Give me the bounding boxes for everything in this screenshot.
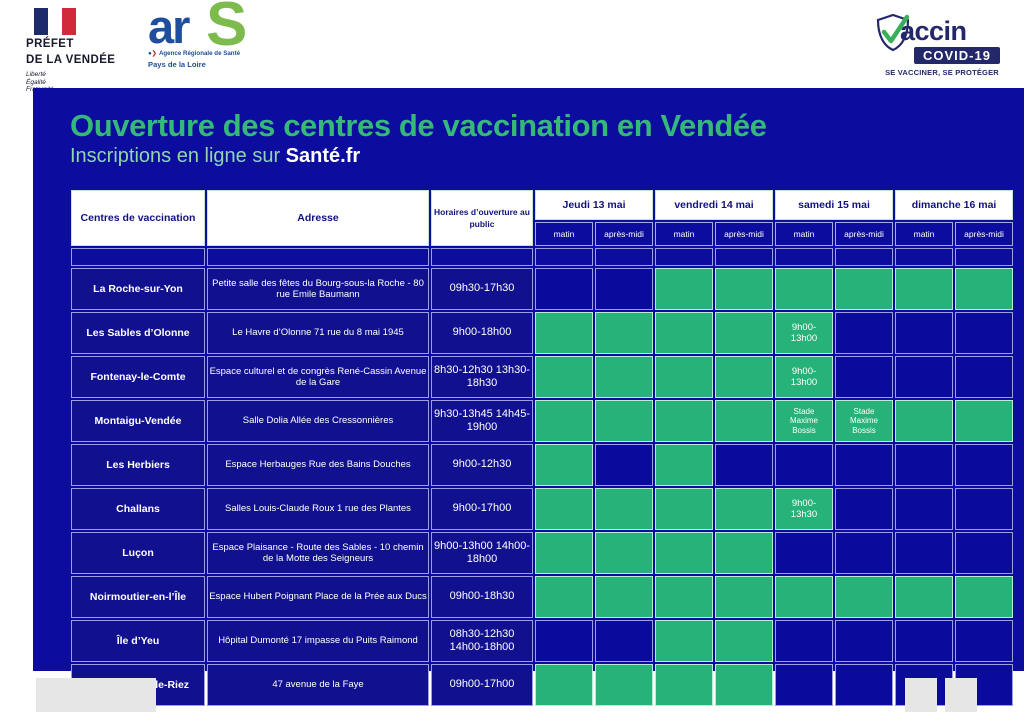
- spacer-cell: [655, 248, 713, 266]
- cell-slot-r6-c5: [835, 532, 893, 574]
- cell-slot-r1-c3: [715, 312, 773, 354]
- cell-slot-r8-c2: [655, 620, 713, 662]
- cell-centre-name: Challans: [71, 488, 205, 530]
- ars-region: Pays de la Loire: [148, 60, 206, 69]
- table-row: La Roche-sur-YonPetite salle des fêtes d…: [71, 268, 1013, 310]
- table-row: Les HerbiersEspace Herbauges Rue des Bai…: [71, 444, 1013, 486]
- cell-slot-r9-c4: [775, 664, 833, 706]
- slot-header-day0-afternoon: après-midi: [595, 222, 653, 246]
- cell-slot-r0-c2: [655, 268, 713, 310]
- subtitle-sante-fr: Santé.fr: [286, 145, 360, 167]
- cell-slot-r0-c3: [715, 268, 773, 310]
- cell-slot-r9-c2: [655, 664, 713, 706]
- cell-slot-r0-c1: [595, 268, 653, 310]
- cell-slot-r1-c2: [655, 312, 713, 354]
- slot-header-day3-afternoon: après-midi: [955, 222, 1013, 246]
- cell-slot-r7-c7: [955, 576, 1013, 618]
- header-day-3: dimanche 16 mai: [895, 190, 1013, 220]
- slot-note: 9h00-13h30: [791, 498, 817, 521]
- table-row: Saint-Hilaire-de-Riez47 avenue de la Fay…: [71, 664, 1013, 706]
- cell-slot-r7-c3: [715, 576, 773, 618]
- cell-slot-r2-c5: [835, 356, 893, 398]
- cell-slot-r4-c2: [655, 444, 713, 486]
- cell-centre-name: Luçon: [71, 532, 205, 574]
- table-row: Fontenay-le-ComteEspace culturel et de c…: [71, 356, 1013, 398]
- cell-adresse: Espace Plaisance - Route des Sables - 10…: [207, 532, 429, 574]
- cell-centre-name: Fontenay-le-Comte: [71, 356, 205, 398]
- table-body: La Roche-sur-YonPetite salle des fêtes d…: [71, 248, 1013, 706]
- cell-slot-r8-c6: [895, 620, 953, 662]
- table-row: ChallansSalles Louis-Claude Roux 1 rue d…: [71, 488, 1013, 530]
- cell-horaires: 09h00-17h00: [431, 664, 533, 706]
- cell-slot-r0-c7: [955, 268, 1013, 310]
- vaccination-schedule-table: Centres de vaccination Adresse Horaires …: [69, 188, 1015, 708]
- cell-slot-r8-c1: [595, 620, 653, 662]
- cell-slot-r3-c0: [535, 400, 593, 442]
- cell-slot-r5-c6: [895, 488, 953, 530]
- logo-bar: PRÉFET DE LA VENDÉE Liberté Égalité Frat…: [0, 0, 1024, 88]
- ars-wordmark: ar S: [148, 6, 268, 56]
- vaccin-covid-logo: accin COVID-19 SE VACCINER, SE PROTÉGER: [876, 14, 1008, 76]
- cell-slot-r7-c2: [655, 576, 713, 618]
- cell-centre-name: Île d’Yeu: [71, 620, 205, 662]
- cell-adresse: Salles Louis-Claude Roux 1 rue des Plant…: [207, 488, 429, 530]
- cell-slot-r6-c2: [655, 532, 713, 574]
- cell-slot-r6-c4: [775, 532, 833, 574]
- slot-header-day1-morning: matin: [655, 222, 713, 246]
- page-subtitle: Inscriptions en ligne sur Santé.fr: [70, 145, 360, 168]
- cell-adresse: Hôpital Dumonté 17 impasse du Puits Raim…: [207, 620, 429, 662]
- bottom-placeholder-right-2: [945, 678, 977, 712]
- bottom-placeholder-right-1: [905, 678, 937, 712]
- cell-slot-r7-c4: [775, 576, 833, 618]
- slot-note: StadeMaximeBossis: [836, 407, 892, 436]
- ars-wordmark-green: S: [206, 0, 247, 56]
- cell-slot-r7-c0: [535, 576, 593, 618]
- slot-header-day2-morning: matin: [775, 222, 833, 246]
- header-row-primary: Centres de vaccination Adresse Horaires …: [71, 190, 1013, 220]
- cell-slot-r8-c3: [715, 620, 773, 662]
- french-flag-icon: [34, 8, 76, 35]
- cell-adresse: Le Havre d’Olonne 71 rue du 8 mai 1945: [207, 312, 429, 354]
- cell-slot-r5-c0: [535, 488, 593, 530]
- cell-slot-r4-c3: [715, 444, 773, 486]
- motto-egalite: Égalité: [26, 79, 126, 87]
- cell-slot-r4-c4: [775, 444, 833, 486]
- cell-slot-r6-c3: [715, 532, 773, 574]
- cell-horaires: 09h30-17h30: [431, 268, 533, 310]
- cell-slot-r3-c6: [895, 400, 953, 442]
- ars-bullet-icon: ●❯: [148, 50, 157, 58]
- table-row: Montaigu-VendéeSalle Dolia Allée des Cre…: [71, 400, 1013, 442]
- spacer-cell: [775, 248, 833, 266]
- cell-horaires: 9h00-18h00: [431, 312, 533, 354]
- header-horaires: Horaires d’ouverture au public: [431, 190, 533, 246]
- cell-slot-r9-c5: [835, 664, 893, 706]
- cell-slot-r0-c0: [535, 268, 593, 310]
- vaccin-tagline: SE VACCINER, SE PROTÉGER: [876, 68, 1008, 77]
- cell-slot-r4-c6: [895, 444, 953, 486]
- cell-slot-r8-c7: [955, 620, 1013, 662]
- cell-horaires: 9h00-17h00: [431, 488, 533, 530]
- motto-liberte: Liberté: [26, 71, 126, 79]
- cell-slot-r3-c4: StadeMaximeBossis: [775, 400, 833, 442]
- cell-slot-r2-c1: [595, 356, 653, 398]
- cell-adresse: Salle Dolia Allée des Cressonnières: [207, 400, 429, 442]
- cell-horaires: 09h00-18h30: [431, 576, 533, 618]
- table-row: Les Sables d’OlonneLe Havre d’Olonne 71 …: [71, 312, 1013, 354]
- cell-slot-r1-c6: [895, 312, 953, 354]
- cell-slot-r2-c7: [955, 356, 1013, 398]
- ars-subtitle: Agence Régionale de Santé: [159, 50, 240, 57]
- cell-slot-r6-c7: [955, 532, 1013, 574]
- cell-slot-r6-c6: [895, 532, 953, 574]
- spacer-cell: [835, 248, 893, 266]
- cell-adresse: Espace Hubert Poignant Place de la Prée …: [207, 576, 429, 618]
- table-head: Centres de vaccination Adresse Horaires …: [71, 190, 1013, 246]
- poster-page: PRÉFET DE LA VENDÉE Liberté Égalité Frat…: [0, 0, 1024, 724]
- spacer-cell: [535, 248, 593, 266]
- cell-centre-name: Noirmoutier-en-l’Île: [71, 576, 205, 618]
- cell-slot-r5-c3: [715, 488, 773, 530]
- cell-slot-r5-c5: [835, 488, 893, 530]
- cell-slot-r8-c4: [775, 620, 833, 662]
- cell-slot-r9-c3: [715, 664, 773, 706]
- cell-slot-r3-c3: [715, 400, 773, 442]
- ars-logo: ar S ●❯Agence Régionale de Santé Pays de…: [148, 6, 268, 82]
- slot-header-day0-morning: matin: [535, 222, 593, 246]
- cell-slot-r2-c3: [715, 356, 773, 398]
- cell-slot-r8-c5: [835, 620, 893, 662]
- vaccin-wordmark: accin: [876, 14, 1008, 50]
- covid19-badge: COVID-19: [914, 47, 1000, 64]
- header-centre: Centres de vaccination: [71, 190, 205, 246]
- cell-slot-r5-c7: [955, 488, 1013, 530]
- cell-slot-r1-c4: 9h00-13h00: [775, 312, 833, 354]
- subtitle-prefix: Inscriptions en ligne sur: [70, 145, 286, 167]
- cell-centre-name: Les Herbiers: [71, 444, 205, 486]
- slot-note: 9h00-13h00: [791, 366, 817, 389]
- cell-horaires: 08h30-12h30 14h00-18h00: [431, 620, 533, 662]
- cell-centre-name: Les Sables d’Olonne: [71, 312, 205, 354]
- cell-adresse: Petite salle des fêtes du Bourg-sous-la …: [207, 268, 429, 310]
- spacer-cell: [71, 248, 205, 266]
- spacer-cell: [595, 248, 653, 266]
- slot-note: StadeMaximeBossis: [776, 407, 832, 436]
- spacer-cell: [895, 248, 953, 266]
- main-panel: Ouverture des centres de vaccination en …: [33, 88, 1024, 671]
- schedule-table-wrap: Centres de vaccination Adresse Horaires …: [69, 188, 994, 708]
- cell-slot-r0-c5: [835, 268, 893, 310]
- table-row: LuçonEspace Plaisance - Route des Sables…: [71, 532, 1013, 574]
- cell-slot-r7-c5: [835, 576, 893, 618]
- cell-slot-r1-c0: [535, 312, 593, 354]
- cell-slot-r3-c1: [595, 400, 653, 442]
- prefet-line1: PRÉFET: [26, 38, 126, 51]
- cell-slot-r2-c0: [535, 356, 593, 398]
- cell-slot-r5-c2: [655, 488, 713, 530]
- table-row: Noirmoutier-en-l’ÎleEspace Hubert Poigna…: [71, 576, 1013, 618]
- bottom-placeholder-left: [36, 678, 156, 712]
- cell-adresse: Espace Herbauges Rue des Bains Douches: [207, 444, 429, 486]
- cell-slot-r8-c0: [535, 620, 593, 662]
- cell-slot-r2-c2: [655, 356, 713, 398]
- cell-slot-r7-c1: [595, 576, 653, 618]
- spacer-cell: [955, 248, 1013, 266]
- header-adresse: Adresse: [207, 190, 429, 246]
- header-day-0: Jeudi 13 mai: [535, 190, 653, 220]
- prefet-vendee-logo: PRÉFET DE LA VENDÉE Liberté Égalité Frat…: [26, 8, 126, 94]
- slot-header-day1-afternoon: après-midi: [715, 222, 773, 246]
- cell-slot-r3-c7: [955, 400, 1013, 442]
- cell-horaires: 9h30-13h45 14h45-19h00: [431, 400, 533, 442]
- spacer-cell: [207, 248, 429, 266]
- cell-slot-r9-c0: [535, 664, 593, 706]
- cell-slot-r4-c0: [535, 444, 593, 486]
- cell-slot-r9-c1: [595, 664, 653, 706]
- ars-subtitle-line: ●❯Agence Régionale de Santé: [148, 50, 240, 58]
- slot-header-day2-afternoon: après-midi: [835, 222, 893, 246]
- cell-slot-r3-c5: StadeMaximeBossis: [835, 400, 893, 442]
- cell-adresse: 47 avenue de la Faye: [207, 664, 429, 706]
- cell-slot-r6-c1: [595, 532, 653, 574]
- cell-slot-r5-c4: 9h00-13h30: [775, 488, 833, 530]
- cell-adresse: Espace culturel et de congrès René-Cassi…: [207, 356, 429, 398]
- cell-centre-name: La Roche-sur-Yon: [71, 268, 205, 310]
- page-title: Ouverture des centres de vaccination en …: [70, 108, 767, 144]
- cell-slot-r3-c2: [655, 400, 713, 442]
- header-day-1: vendredi 14 mai: [655, 190, 773, 220]
- cell-horaires: 9h00-13h00 14h00-18h00: [431, 532, 533, 574]
- table-row: Île d’YeuHôpital Dumonté 17 impasse du P…: [71, 620, 1013, 662]
- spacer-cell: [715, 248, 773, 266]
- cell-slot-r5-c1: [595, 488, 653, 530]
- cell-slot-r1-c5: [835, 312, 893, 354]
- cell-centre-name: Montaigu-Vendée: [71, 400, 205, 442]
- cell-slot-r7-c6: [895, 576, 953, 618]
- cell-slot-r6-c0: [535, 532, 593, 574]
- vaccin-word: accin: [900, 15, 967, 47]
- cell-horaires: 9h00-12h30: [431, 444, 533, 486]
- header-spacer-row: [71, 248, 1013, 266]
- cell-slot-r1-c7: [955, 312, 1013, 354]
- cell-slot-r2-c4: 9h00-13h00: [775, 356, 833, 398]
- cell-slot-r0-c6: [895, 268, 953, 310]
- cell-slot-r4-c7: [955, 444, 1013, 486]
- ars-wordmark-blue: ar: [148, 2, 188, 52]
- cell-slot-r0-c4: [775, 268, 833, 310]
- cell-horaires: 8h30-12h30 13h30-18h30: [431, 356, 533, 398]
- cell-slot-r4-c5: [835, 444, 893, 486]
- slot-header-day3-morning: matin: [895, 222, 953, 246]
- spacer-cell: [431, 248, 533, 266]
- cell-slot-r4-c1: [595, 444, 653, 486]
- prefet-line2: DE LA VENDÉE: [26, 54, 126, 67]
- slot-note: 9h00-13h00: [791, 322, 817, 345]
- cell-slot-r2-c6: [895, 356, 953, 398]
- cell-slot-r1-c1: [595, 312, 653, 354]
- header-day-2: samedi 15 mai: [775, 190, 893, 220]
